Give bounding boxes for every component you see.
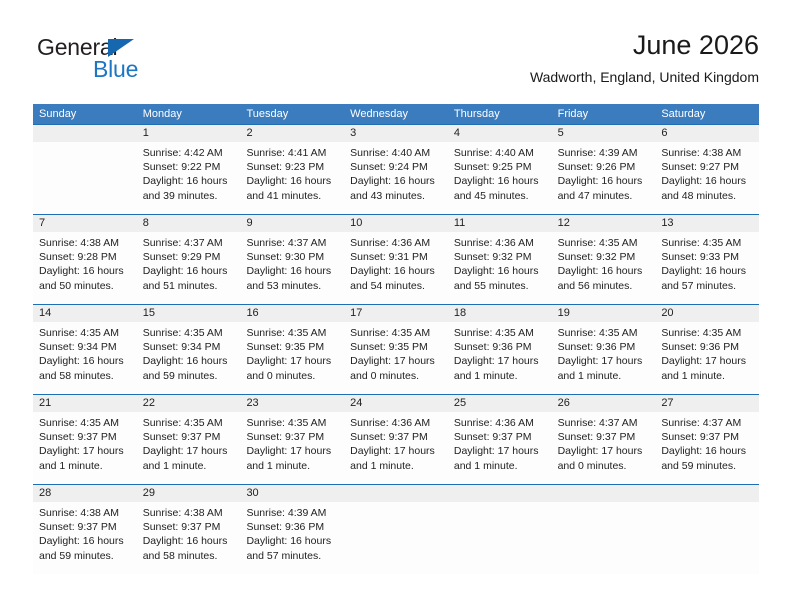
day-number: 15 xyxy=(137,305,241,322)
day-cell xyxy=(33,142,137,214)
sunset-text: Sunset: 9:27 PM xyxy=(661,160,753,174)
daylight-text-line1: Daylight: 16 hours xyxy=(246,174,338,188)
week-row: 14 15 16 17 18 19 20 Sunrise: 4:35 AM Su… xyxy=(33,304,759,394)
weekday-header-tuesday: Tuesday xyxy=(240,104,344,124)
weekday-header-monday: Monday xyxy=(137,104,241,124)
sunset-text: Sunset: 9:31 PM xyxy=(350,250,442,264)
day-cell: Sunrise: 4:35 AM Sunset: 9:35 PM Dayligh… xyxy=(344,322,448,394)
sunrise-text: Sunrise: 4:39 AM xyxy=(246,506,338,520)
day-number: 30 xyxy=(240,485,344,502)
sunset-text: Sunset: 9:36 PM xyxy=(558,340,650,354)
sunrise-text: Sunrise: 4:35 AM xyxy=(558,326,650,340)
day-cell: Sunrise: 4:40 AM Sunset: 9:24 PM Dayligh… xyxy=(344,142,448,214)
daylight-text-line1: Daylight: 17 hours xyxy=(558,354,650,368)
week-detail-band: Sunrise: 4:38 AM Sunset: 9:37 PM Dayligh… xyxy=(33,502,759,574)
daylight-text-line2: and 43 minutes. xyxy=(350,189,442,203)
sunrise-text: Sunrise: 4:37 AM xyxy=(246,236,338,250)
daylight-text-line2: and 55 minutes. xyxy=(454,279,546,293)
page-title: June 2026 xyxy=(530,28,759,62)
daylight-text-line2: and 1 minute. xyxy=(350,459,442,473)
day-cell: Sunrise: 4:35 AM Sunset: 9:32 PM Dayligh… xyxy=(552,232,656,304)
sunrise-text: Sunrise: 4:35 AM xyxy=(39,416,131,430)
daylight-text-line2: and 53 minutes. xyxy=(246,279,338,293)
day-number: 29 xyxy=(137,485,241,502)
daylight-text-line1: Daylight: 16 hours xyxy=(661,264,753,278)
day-cell: Sunrise: 4:39 AM Sunset: 9:36 PM Dayligh… xyxy=(240,502,344,574)
day-number: 17 xyxy=(344,305,448,322)
daylight-text-line2: and 58 minutes. xyxy=(39,369,131,383)
day-cell: Sunrise: 4:36 AM Sunset: 9:37 PM Dayligh… xyxy=(344,412,448,484)
week-row: 1 2 3 4 5 6 Sunrise: 4:42 AM Sunset: 9:2… xyxy=(33,124,759,214)
sunset-text: Sunset: 9:30 PM xyxy=(246,250,338,264)
sunrise-text: Sunrise: 4:35 AM xyxy=(661,326,753,340)
sunrise-text: Sunrise: 4:35 AM xyxy=(661,236,753,250)
sunset-text: Sunset: 9:22 PM xyxy=(143,160,235,174)
daylight-text-line1: Daylight: 16 hours xyxy=(454,174,546,188)
daylight-text-line2: and 0 minutes. xyxy=(350,369,442,383)
day-number: 21 xyxy=(33,395,137,412)
day-cell: Sunrise: 4:37 AM Sunset: 9:37 PM Dayligh… xyxy=(552,412,656,484)
week-detail-band: Sunrise: 4:42 AM Sunset: 9:22 PM Dayligh… xyxy=(33,142,759,214)
daylight-text-line2: and 45 minutes. xyxy=(454,189,546,203)
sunrise-text: Sunrise: 4:35 AM xyxy=(39,326,131,340)
title-block: June 2026 Wadworth, England, United King… xyxy=(530,28,759,87)
sunrise-text: Sunrise: 4:40 AM xyxy=(454,146,546,160)
day-number: 8 xyxy=(137,215,241,232)
daylight-text-line2: and 0 minutes. xyxy=(246,369,338,383)
sunrise-text: Sunrise: 4:38 AM xyxy=(143,506,235,520)
day-number: 11 xyxy=(448,215,552,232)
weekday-header-thursday: Thursday xyxy=(448,104,552,124)
day-number: 24 xyxy=(344,395,448,412)
day-cell: Sunrise: 4:36 AM Sunset: 9:31 PM Dayligh… xyxy=(344,232,448,304)
daylight-text-line2: and 59 minutes. xyxy=(661,459,753,473)
daylight-text-line1: Daylight: 16 hours xyxy=(143,354,235,368)
daylight-text-line1: Daylight: 16 hours xyxy=(558,264,650,278)
daylight-text-line1: Daylight: 16 hours xyxy=(350,264,442,278)
day-number: 4 xyxy=(448,125,552,142)
sunset-text: Sunset: 9:32 PM xyxy=(558,250,650,264)
week-detail-band: Sunrise: 4:38 AM Sunset: 9:28 PM Dayligh… xyxy=(33,232,759,304)
week-row: 7 8 9 10 11 12 13 Sunrise: 4:38 AM Sunse… xyxy=(33,214,759,304)
daylight-text-line2: and 1 minute. xyxy=(454,369,546,383)
weekday-header-wednesday: Wednesday xyxy=(344,104,448,124)
sunset-text: Sunset: 9:36 PM xyxy=(246,520,338,534)
page-subtitle: Wadworth, England, United Kingdom xyxy=(530,67,759,87)
daylight-text-line1: Daylight: 17 hours xyxy=(350,444,442,458)
day-cell: Sunrise: 4:38 AM Sunset: 9:27 PM Dayligh… xyxy=(655,142,759,214)
sunrise-text: Sunrise: 4:37 AM xyxy=(143,236,235,250)
day-cell: Sunrise: 4:35 AM Sunset: 9:35 PM Dayligh… xyxy=(240,322,344,394)
sunset-text: Sunset: 9:36 PM xyxy=(661,340,753,354)
sunrise-text: Sunrise: 4:35 AM xyxy=(558,236,650,250)
sunset-text: Sunset: 9:34 PM xyxy=(143,340,235,354)
day-cell: Sunrise: 4:38 AM Sunset: 9:37 PM Dayligh… xyxy=(137,502,241,574)
daylight-text-line1: Daylight: 17 hours xyxy=(558,444,650,458)
daylight-text-line1: Daylight: 17 hours xyxy=(246,444,338,458)
day-cell: Sunrise: 4:36 AM Sunset: 9:37 PM Dayligh… xyxy=(448,412,552,484)
week-number-band: 7 8 9 10 11 12 13 xyxy=(33,215,759,232)
generalblue-logo: General Blue xyxy=(37,34,237,90)
logo-triangle-icon xyxy=(108,39,134,57)
sunrise-text: Sunrise: 4:35 AM xyxy=(143,416,235,430)
day-cell: Sunrise: 4:37 AM Sunset: 9:37 PM Dayligh… xyxy=(655,412,759,484)
week-number-band: 14 15 16 17 18 19 20 xyxy=(33,305,759,322)
day-cell: Sunrise: 4:35 AM Sunset: 9:34 PM Dayligh… xyxy=(33,322,137,394)
daylight-text-line2: and 58 minutes. xyxy=(143,549,235,563)
sunrise-text: Sunrise: 4:42 AM xyxy=(143,146,235,160)
day-cell: Sunrise: 4:37 AM Sunset: 9:29 PM Dayligh… xyxy=(137,232,241,304)
daylight-text-line2: and 1 minute. xyxy=(246,459,338,473)
daylight-text-line1: Daylight: 16 hours xyxy=(143,264,235,278)
daylight-text-line2: and 57 minutes. xyxy=(246,549,338,563)
daylight-text-line2: and 54 minutes. xyxy=(350,279,442,293)
logo-text-blue: Blue xyxy=(93,56,138,83)
day-number: 27 xyxy=(655,395,759,412)
sunset-text: Sunset: 9:35 PM xyxy=(246,340,338,354)
day-cell xyxy=(655,502,759,574)
sunrise-text: Sunrise: 4:37 AM xyxy=(558,416,650,430)
day-number: 19 xyxy=(552,305,656,322)
sunrise-text: Sunrise: 4:38 AM xyxy=(661,146,753,160)
sunset-text: Sunset: 9:37 PM xyxy=(143,430,235,444)
sunrise-text: Sunrise: 4:35 AM xyxy=(246,326,338,340)
daylight-text-line2: and 57 minutes. xyxy=(661,279,753,293)
day-number: 13 xyxy=(655,215,759,232)
day-number xyxy=(33,125,137,142)
day-number: 1 xyxy=(137,125,241,142)
day-number: 28 xyxy=(33,485,137,502)
day-cell xyxy=(552,502,656,574)
daylight-text-line1: Daylight: 16 hours xyxy=(246,264,338,278)
sunset-text: Sunset: 9:37 PM xyxy=(350,430,442,444)
sunset-text: Sunset: 9:37 PM xyxy=(661,430,753,444)
sunrise-text: Sunrise: 4:35 AM xyxy=(246,416,338,430)
daylight-text-line2: and 48 minutes. xyxy=(661,189,753,203)
day-cell: Sunrise: 4:38 AM Sunset: 9:37 PM Dayligh… xyxy=(33,502,137,574)
daylight-text-line2: and 1 minute. xyxy=(39,459,131,473)
day-number: 12 xyxy=(552,215,656,232)
daylight-text-line2: and 0 minutes. xyxy=(558,459,650,473)
sunset-text: Sunset: 9:37 PM xyxy=(246,430,338,444)
daylight-text-line1: Daylight: 17 hours xyxy=(454,354,546,368)
sunrise-text: Sunrise: 4:38 AM xyxy=(39,236,131,250)
sunset-text: Sunset: 9:32 PM xyxy=(454,250,546,264)
sunset-text: Sunset: 9:24 PM xyxy=(350,160,442,174)
day-number: 18 xyxy=(448,305,552,322)
daylight-text-line1: Daylight: 16 hours xyxy=(661,174,753,188)
weekday-header-friday: Friday xyxy=(552,104,656,124)
week-row: 21 22 23 24 25 26 27 Sunrise: 4:35 AM Su… xyxy=(33,394,759,484)
day-number xyxy=(552,485,656,502)
day-number: 5 xyxy=(552,125,656,142)
day-number: 22 xyxy=(137,395,241,412)
day-cell: Sunrise: 4:35 AM Sunset: 9:33 PM Dayligh… xyxy=(655,232,759,304)
daylight-text-line1: Daylight: 17 hours xyxy=(350,354,442,368)
day-number xyxy=(448,485,552,502)
day-cell: Sunrise: 4:36 AM Sunset: 9:32 PM Dayligh… xyxy=(448,232,552,304)
day-cell xyxy=(448,502,552,574)
sunset-text: Sunset: 9:35 PM xyxy=(350,340,442,354)
daylight-text-line1: Daylight: 17 hours xyxy=(454,444,546,458)
daylight-text-line2: and 56 minutes. xyxy=(558,279,650,293)
day-number: 26 xyxy=(552,395,656,412)
sunset-text: Sunset: 9:26 PM xyxy=(558,160,650,174)
daylight-text-line2: and 59 minutes. xyxy=(39,549,131,563)
page-header: General Blue June 2026 Wadworth, England… xyxy=(33,28,759,94)
sunrise-text: Sunrise: 4:38 AM xyxy=(39,506,131,520)
weekday-header-row: Sunday Monday Tuesday Wednesday Thursday… xyxy=(33,104,759,124)
daylight-text-line2: and 51 minutes. xyxy=(143,279,235,293)
daylight-text-line2: and 41 minutes. xyxy=(246,189,338,203)
sunrise-text: Sunrise: 4:35 AM xyxy=(350,326,442,340)
daylight-text-line1: Daylight: 16 hours xyxy=(454,264,546,278)
day-number: 3 xyxy=(344,125,448,142)
daylight-text-line2: and 1 minute. xyxy=(661,369,753,383)
daylight-text-line2: and 1 minute. xyxy=(143,459,235,473)
day-cell: Sunrise: 4:37 AM Sunset: 9:30 PM Dayligh… xyxy=(240,232,344,304)
sunset-text: Sunset: 9:37 PM xyxy=(454,430,546,444)
day-cell: Sunrise: 4:35 AM Sunset: 9:34 PM Dayligh… xyxy=(137,322,241,394)
sunset-text: Sunset: 9:37 PM xyxy=(558,430,650,444)
sunset-text: Sunset: 9:36 PM xyxy=(454,340,546,354)
week-row: 28 29 30 Sunrise: 4:38 AM Sunset: 9:37 P… xyxy=(33,484,759,574)
daylight-text-line2: and 39 minutes. xyxy=(143,189,235,203)
week-number-band: 1 2 3 4 5 6 xyxy=(33,125,759,142)
sunrise-text: Sunrise: 4:36 AM xyxy=(454,416,546,430)
day-number: 16 xyxy=(240,305,344,322)
daylight-text-line1: Daylight: 17 hours xyxy=(661,354,753,368)
day-number xyxy=(344,485,448,502)
sunrise-text: Sunrise: 4:35 AM xyxy=(454,326,546,340)
sunrise-text: Sunrise: 4:36 AM xyxy=(350,236,442,250)
daylight-text-line1: Daylight: 16 hours xyxy=(39,534,131,548)
daylight-text-line1: Daylight: 17 hours xyxy=(143,444,235,458)
day-cell: Sunrise: 4:42 AM Sunset: 9:22 PM Dayligh… xyxy=(137,142,241,214)
sunrise-text: Sunrise: 4:36 AM xyxy=(350,416,442,430)
day-cell: Sunrise: 4:39 AM Sunset: 9:26 PM Dayligh… xyxy=(552,142,656,214)
sunset-text: Sunset: 9:25 PM xyxy=(454,160,546,174)
daylight-text-line1: Daylight: 16 hours xyxy=(558,174,650,188)
daylight-text-line1: Daylight: 16 hours xyxy=(350,174,442,188)
weekday-header-sunday: Sunday xyxy=(33,104,137,124)
daylight-text-line2: and 1 minute. xyxy=(558,369,650,383)
day-cell: Sunrise: 4:35 AM Sunset: 9:37 PM Dayligh… xyxy=(240,412,344,484)
day-number: 14 xyxy=(33,305,137,322)
sunset-text: Sunset: 9:29 PM xyxy=(143,250,235,264)
day-cell: Sunrise: 4:35 AM Sunset: 9:36 PM Dayligh… xyxy=(448,322,552,394)
sunset-text: Sunset: 9:37 PM xyxy=(39,520,131,534)
day-number: 2 xyxy=(240,125,344,142)
sunrise-text: Sunrise: 4:37 AM xyxy=(661,416,753,430)
day-number: 6 xyxy=(655,125,759,142)
daylight-text-line1: Daylight: 17 hours xyxy=(246,354,338,368)
day-number: 7 xyxy=(33,215,137,232)
day-cell: Sunrise: 4:35 AM Sunset: 9:37 PM Dayligh… xyxy=(33,412,137,484)
sunrise-text: Sunrise: 4:39 AM xyxy=(558,146,650,160)
day-number xyxy=(655,485,759,502)
sunset-text: Sunset: 9:37 PM xyxy=(143,520,235,534)
calendar-page: General Blue June 2026 Wadworth, England… xyxy=(0,0,792,612)
day-number: 25 xyxy=(448,395,552,412)
day-number: 20 xyxy=(655,305,759,322)
daylight-text-line1: Daylight: 16 hours xyxy=(143,534,235,548)
daylight-text-line1: Daylight: 16 hours xyxy=(39,264,131,278)
sunrise-text: Sunrise: 4:41 AM xyxy=(246,146,338,160)
daylight-text-line1: Daylight: 16 hours xyxy=(39,354,131,368)
week-number-band: 28 29 30 xyxy=(33,485,759,502)
day-cell: Sunrise: 4:40 AM Sunset: 9:25 PM Dayligh… xyxy=(448,142,552,214)
sunset-text: Sunset: 9:28 PM xyxy=(39,250,131,264)
sunset-text: Sunset: 9:33 PM xyxy=(661,250,753,264)
sunset-text: Sunset: 9:23 PM xyxy=(246,160,338,174)
calendar-grid: Sunday Monday Tuesday Wednesday Thursday… xyxy=(33,104,759,574)
daylight-text-line2: and 47 minutes. xyxy=(558,189,650,203)
day-cell: Sunrise: 4:38 AM Sunset: 9:28 PM Dayligh… xyxy=(33,232,137,304)
day-number: 9 xyxy=(240,215,344,232)
week-number-band: 21 22 23 24 25 26 27 xyxy=(33,395,759,412)
sunset-text: Sunset: 9:34 PM xyxy=(39,340,131,354)
daylight-text-line2: and 50 minutes. xyxy=(39,279,131,293)
sunrise-text: Sunrise: 4:35 AM xyxy=(143,326,235,340)
day-cell xyxy=(344,502,448,574)
week-detail-band: Sunrise: 4:35 AM Sunset: 9:34 PM Dayligh… xyxy=(33,322,759,394)
daylight-text-line1: Daylight: 16 hours xyxy=(246,534,338,548)
daylight-text-line1: Daylight: 17 hours xyxy=(39,444,131,458)
day-cell: Sunrise: 4:35 AM Sunset: 9:36 PM Dayligh… xyxy=(655,322,759,394)
day-cell: Sunrise: 4:35 AM Sunset: 9:37 PM Dayligh… xyxy=(137,412,241,484)
sunrise-text: Sunrise: 4:40 AM xyxy=(350,146,442,160)
day-cell: Sunrise: 4:41 AM Sunset: 9:23 PM Dayligh… xyxy=(240,142,344,214)
daylight-text-line1: Daylight: 16 hours xyxy=(143,174,235,188)
week-detail-band: Sunrise: 4:35 AM Sunset: 9:37 PM Dayligh… xyxy=(33,412,759,484)
daylight-text-line2: and 59 minutes. xyxy=(143,369,235,383)
daylight-text-line2: and 1 minute. xyxy=(454,459,546,473)
day-number: 10 xyxy=(344,215,448,232)
day-cell: Sunrise: 4:35 AM Sunset: 9:36 PM Dayligh… xyxy=(552,322,656,394)
sunrise-text: Sunrise: 4:36 AM xyxy=(454,236,546,250)
weekday-header-saturday: Saturday xyxy=(655,104,759,124)
day-number: 23 xyxy=(240,395,344,412)
daylight-text-line1: Daylight: 16 hours xyxy=(661,444,753,458)
sunset-text: Sunset: 9:37 PM xyxy=(39,430,131,444)
